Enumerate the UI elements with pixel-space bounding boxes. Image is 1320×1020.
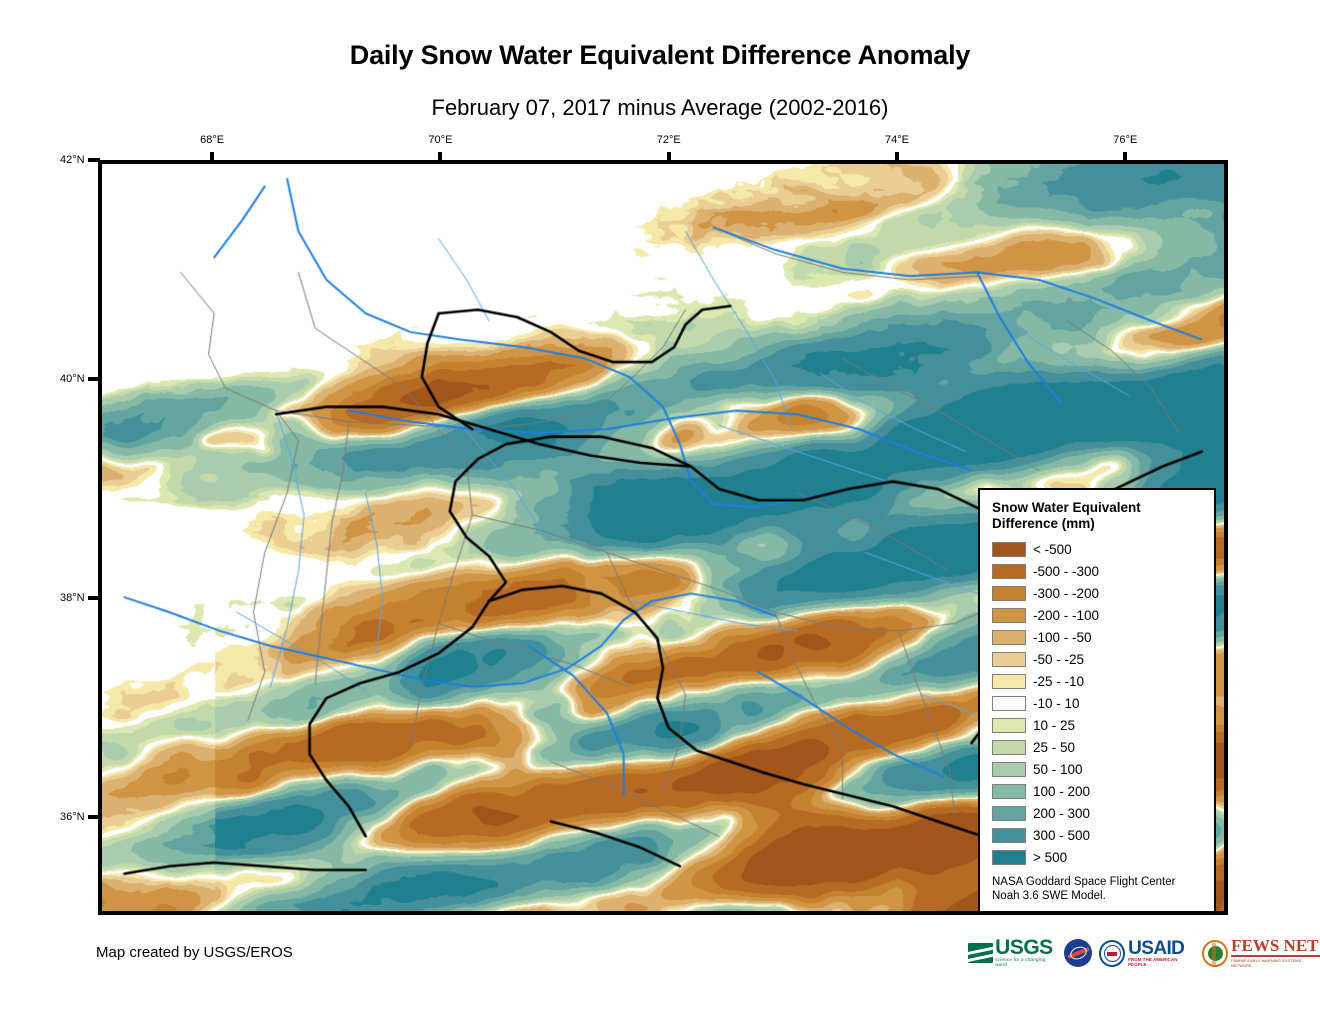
- legend-swatch: [992, 674, 1026, 689]
- usgs-wave-icon: [968, 943, 993, 963]
- lon-tick-label: 76°E: [1113, 134, 1137, 146]
- legend-label: 300 - 500: [1033, 828, 1090, 843]
- legend-row: -300 - -200: [992, 582, 1214, 604]
- legend-swatch: [992, 762, 1026, 777]
- legend-title: Snow Water Equivalent Difference (mm): [992, 500, 1192, 532]
- legend-label: -25 - -10: [1033, 674, 1084, 689]
- legend-entries: < -500-500 - -300-300 - -200-200 - -100-…: [992, 538, 1214, 868]
- legend-swatch: [992, 718, 1026, 733]
- legend-swatch: [992, 652, 1026, 667]
- legend-row: -25 - -10: [992, 670, 1214, 692]
- legend-label: -500 - -300: [1033, 564, 1099, 579]
- legend-swatch: [992, 630, 1026, 645]
- legend-label: 25 - 50: [1033, 740, 1075, 755]
- legend-row: < -500: [992, 538, 1214, 560]
- legend-label: 50 - 100: [1033, 762, 1083, 777]
- lon-tick-label: 70°E: [428, 134, 452, 146]
- fewsnet-tagline: FAMINE EARLY WARNING SYSTEMS NETWORK: [1231, 958, 1320, 968]
- usaid-wordmark: USAID: [1128, 940, 1195, 957]
- legend-attribution: NASA Goddard Space Flight Center Noah 3.…: [992, 875, 1202, 903]
- lat-tick: [88, 158, 100, 162]
- legend-label: 200 - 300: [1033, 806, 1090, 821]
- lon-tick: [1123, 152, 1127, 162]
- usaid-logo[interactable]: USAID FROM THE AMERICAN PEOPLE: [1099, 933, 1195, 973]
- page-title: Daily Snow Water Equivalent Difference A…: [0, 40, 1320, 71]
- usgs-wordmark: USGS: [995, 939, 1057, 957]
- legend-row: -50 - -25: [992, 648, 1214, 670]
- agency-logos: USGS science for a changing world USAID …: [968, 932, 1320, 974]
- lat-tick: [88, 596, 100, 600]
- lat-tick: [88, 815, 100, 819]
- legend-row: -10 - 10: [992, 692, 1214, 714]
- fewsnet-globe-icon: [1202, 940, 1228, 967]
- lat-tick-label: 42°N: [60, 154, 85, 166]
- lon-tick: [210, 152, 214, 162]
- usgs-logo[interactable]: USGS science for a changing world: [968, 933, 1057, 973]
- nasa-logo[interactable]: [1064, 933, 1092, 973]
- legend-panel: Snow Water Equivalent Difference (mm) < …: [978, 488, 1216, 913]
- lon-tick-label: 72°E: [657, 134, 681, 146]
- legend-swatch: [992, 850, 1026, 865]
- lon-tick-label: 68°E: [200, 134, 224, 146]
- legend-swatch: [992, 542, 1026, 557]
- lat-tick-label: 40°N: [60, 373, 85, 385]
- lat-tick-label: 36°N: [60, 811, 85, 823]
- legend-label: -50 - -25: [1033, 652, 1084, 667]
- lat-tick: [88, 377, 100, 381]
- legend-row: -200 - -100: [992, 604, 1214, 626]
- fewsnet-divider: [1231, 955, 1320, 957]
- legend-row: > 500: [992, 846, 1214, 868]
- legend-row: 10 - 25: [992, 714, 1214, 736]
- legend-row: 200 - 300: [992, 802, 1214, 824]
- legend-row: 300 - 500: [992, 824, 1214, 846]
- legend-row: 100 - 200: [992, 780, 1214, 802]
- legend-swatch: [992, 564, 1026, 579]
- lon-tick: [895, 152, 899, 162]
- legend-label: -100 - -50: [1033, 630, 1092, 645]
- fewsnet-wordmark: FEWS NET: [1231, 938, 1320, 954]
- fewsnet-logo[interactable]: FEWS NET FAMINE EARLY WARNING SYSTEMS NE…: [1202, 933, 1320, 973]
- legend-swatch: [992, 806, 1026, 821]
- legend-swatch: [992, 740, 1026, 755]
- map-page: Daily Snow Water Equivalent Difference A…: [0, 0, 1320, 1020]
- legend-label: < -500: [1033, 542, 1072, 557]
- legend-swatch: [992, 586, 1026, 601]
- legend-label: -200 - -100: [1033, 608, 1099, 623]
- legend-swatch: [992, 828, 1026, 843]
- footer-credit: Map created by USGS/EROS: [96, 944, 293, 961]
- legend-swatch: [992, 784, 1026, 799]
- legend-swatch: [992, 608, 1026, 623]
- usaid-seal-icon: [1099, 940, 1125, 967]
- lon-tick: [438, 152, 442, 162]
- legend-label: 10 - 25: [1033, 718, 1075, 733]
- legend-label: > 500: [1033, 850, 1067, 865]
- legend-row: 25 - 50: [992, 736, 1214, 758]
- legend-label: -300 - -200: [1033, 586, 1099, 601]
- legend-row: -100 - -50: [992, 626, 1214, 648]
- legend-row: 50 - 100: [992, 758, 1214, 780]
- lon-tick-label: 74°E: [885, 134, 909, 146]
- usaid-tagline: FROM THE AMERICAN PEOPLE: [1128, 957, 1195, 967]
- legend-label: 100 - 200: [1033, 784, 1090, 799]
- lat-tick-label: 38°N: [60, 592, 85, 604]
- page-subtitle: February 07, 2017 minus Average (2002-20…: [0, 95, 1320, 121]
- legend-label: -10 - 10: [1033, 696, 1080, 711]
- legend-row: -500 - -300: [992, 560, 1214, 582]
- lon-tick: [667, 152, 671, 162]
- nasa-meatball-icon: [1064, 939, 1092, 967]
- legend-swatch: [992, 696, 1026, 711]
